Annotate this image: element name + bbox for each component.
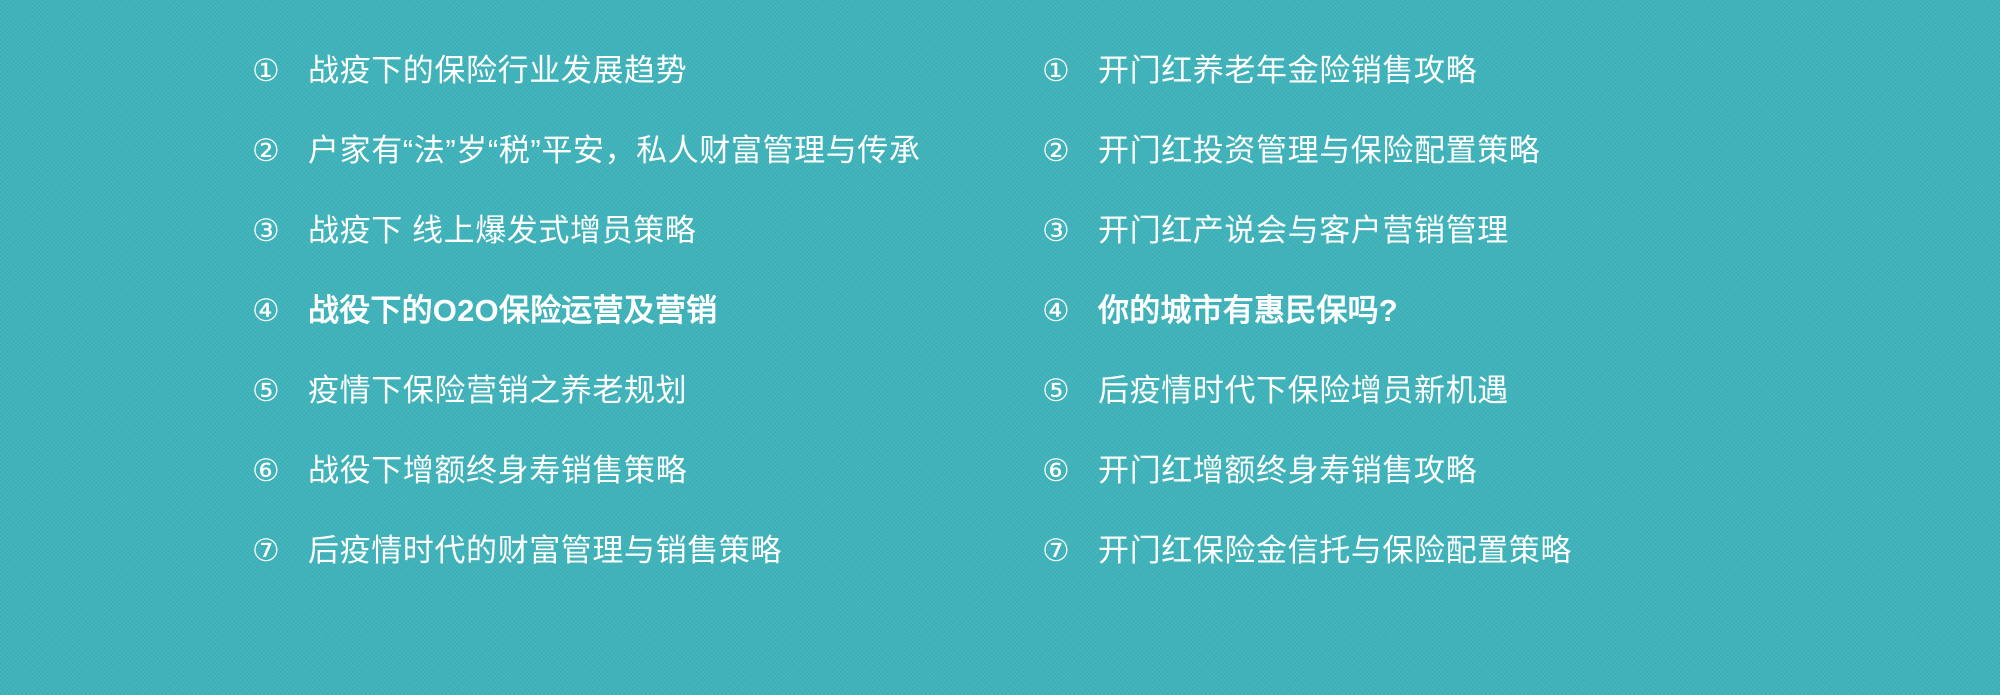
list-item-marker: ⑥ (252, 450, 308, 492)
list-item-marker: ③ (252, 210, 308, 252)
list-item[interactable]: ③ 开门红产说会与客户营销管理 (1042, 210, 1832, 290)
list-item-label: 开门红保险金信托与保险配置策略 (1098, 530, 1572, 572)
list-item-label: 战疫下的保险行业发展趋势 (308, 50, 687, 92)
list-item-marker: ① (252, 50, 308, 92)
list-item-marker: ⑦ (1042, 530, 1098, 572)
list-item-label: 户家有“法”岁“税”平安，私人财富管理与传承 (308, 130, 921, 172)
list-item-marker: ⑤ (252, 370, 308, 412)
list-item-marker: ② (252, 130, 308, 172)
list-item-label: 开门红产说会与客户营销管理 (1098, 210, 1509, 252)
list-item[interactable]: ① 开门红养老年金险销售攻略 (1042, 50, 1832, 130)
list-item[interactable]: ③ 战疫下 线上爆发式增员策略 (252, 210, 1042, 290)
list-item[interactable]: ② 户家有“法”岁“税”平安，私人财富管理与传承 (252, 130, 1042, 210)
list-item-marker: ⑤ (1042, 370, 1098, 412)
list-item[interactable]: ⑤ 后疫情时代下保险增员新机遇 (1042, 370, 1832, 450)
list-item-label: 后疫情时代下保险增员新机遇 (1098, 370, 1509, 412)
list-item[interactable]: ⑤ 疫情下保险营销之养老规划 (252, 370, 1042, 450)
list-item[interactable]: ⑦ 开门红保险金信托与保险配置策略 (1042, 530, 1832, 610)
list-item[interactable]: ⑦ 后疫情时代的财富管理与销售策略 (252, 530, 1042, 610)
list-item-label: 战役下的O2O保险运营及营销 (308, 290, 717, 332)
left-column: ① 战疫下的保险行业发展趋势 ② 户家有“法”岁“税”平安，私人财富管理与传承 … (252, 50, 1042, 610)
list-item-marker: ② (1042, 130, 1098, 172)
list-item[interactable]: ④ 战役下的O2O保险运营及营销 (252, 290, 1042, 370)
list-item[interactable]: ④ 你的城市有惠民保吗? (1042, 290, 1832, 370)
list-item-label: 开门红投资管理与保险配置策略 (1098, 130, 1540, 172)
list-item-label: 后疫情时代的财富管理与销售策略 (308, 530, 782, 572)
list-item-marker: ⑥ (1042, 450, 1098, 492)
list-item-marker: ④ (1042, 290, 1098, 332)
list-item[interactable]: ① 战疫下的保险行业发展趋势 (252, 50, 1042, 130)
list-item-marker: ④ (252, 290, 308, 332)
list-item-marker: ① (1042, 50, 1098, 92)
slide-canvas: ① 战疫下的保险行业发展趋势 ② 户家有“法”岁“税”平安，私人财富管理与传承 … (0, 0, 2000, 695)
list-item[interactable]: ⑥ 战役下增额终身寿销售策略 (252, 450, 1042, 530)
list-item-label: 战疫下 线上爆发式增员策略 (308, 210, 696, 252)
course-list-columns: ① 战疫下的保险行业发展趋势 ② 户家有“法”岁“税”平安，私人财富管理与传承 … (0, 0, 2000, 695)
list-item-label: 战役下增额终身寿销售策略 (308, 450, 687, 492)
list-item-label: 开门红养老年金险销售攻略 (1098, 50, 1477, 92)
list-item-label: 疫情下保险营销之养老规划 (308, 370, 687, 412)
list-item-label: 你的城市有惠民保吗? (1098, 290, 1398, 332)
right-column: ① 开门红养老年金险销售攻略 ② 开门红投资管理与保险配置策略 ③ 开门红产说会… (1042, 50, 1832, 610)
list-item[interactable]: ⑥ 开门红增额终身寿销售攻略 (1042, 450, 1832, 530)
list-item-label: 开门红增额终身寿销售攻略 (1098, 450, 1477, 492)
list-item-marker: ⑦ (252, 530, 308, 572)
list-item-marker: ③ (1042, 210, 1098, 252)
list-item[interactable]: ② 开门红投资管理与保险配置策略 (1042, 130, 1832, 210)
